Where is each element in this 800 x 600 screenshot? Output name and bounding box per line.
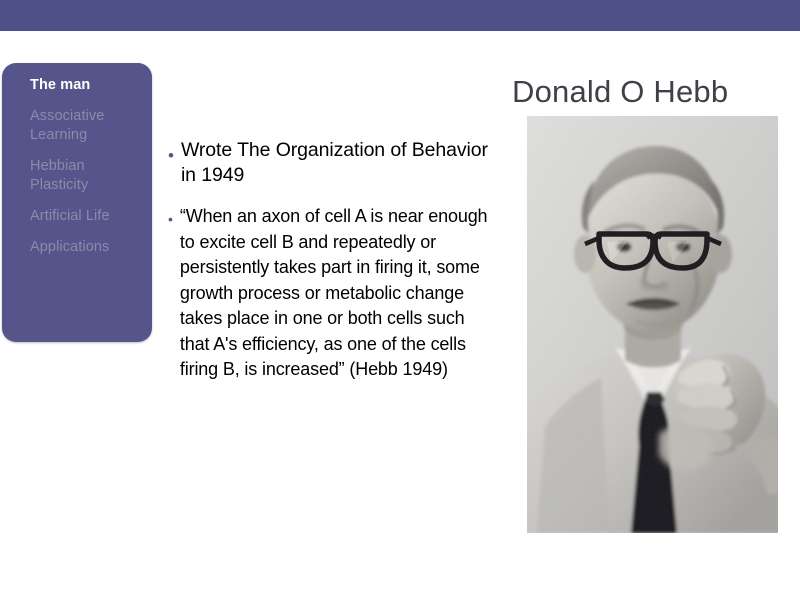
sidebar-item-label: Hebbian Plasticity [30, 158, 88, 193]
bullet-item: • “When an axon of cell A is near enough… [168, 204, 488, 383]
bullet-marker-icon: • [168, 138, 174, 164]
bullet-text: Wrote The Organization of Behavior in 19… [181, 138, 488, 188]
portrait-illustration [527, 116, 778, 533]
sidebar-item-label: Associative Learning [30, 108, 104, 143]
sidebar-item-artificial-life[interactable]: Artificial Life [2, 207, 152, 226]
sidebar-nav: The man Associative Learning Hebbian Pla… [2, 63, 152, 342]
sidebar-item-label: Applications [30, 239, 109, 255]
bullet-text: “When an axon of cell A is near enough t… [180, 204, 488, 383]
page-title: Donald O Hebb [512, 74, 798, 110]
sidebar-item-associative-learning[interactable]: Associative Learning [2, 107, 152, 145]
slide-body: • Wrote The Organization of Behavior in … [168, 138, 488, 383]
sidebar-item-label: Artificial Life [30, 208, 110, 224]
portrait-photo [527, 116, 778, 533]
sidebar-item-hebbian-plasticity[interactable]: Hebbian Plasticity [2, 157, 152, 195]
bullet-item: • Wrote The Organization of Behavior in … [168, 138, 488, 188]
sidebar-item-applications[interactable]: Applications [2, 238, 152, 257]
sidebar-item-the-man[interactable]: The man [2, 76, 152, 95]
top-banner [0, 0, 800, 31]
bullet-marker-icon: • [168, 204, 173, 226]
sidebar-item-label: The man [30, 77, 90, 93]
